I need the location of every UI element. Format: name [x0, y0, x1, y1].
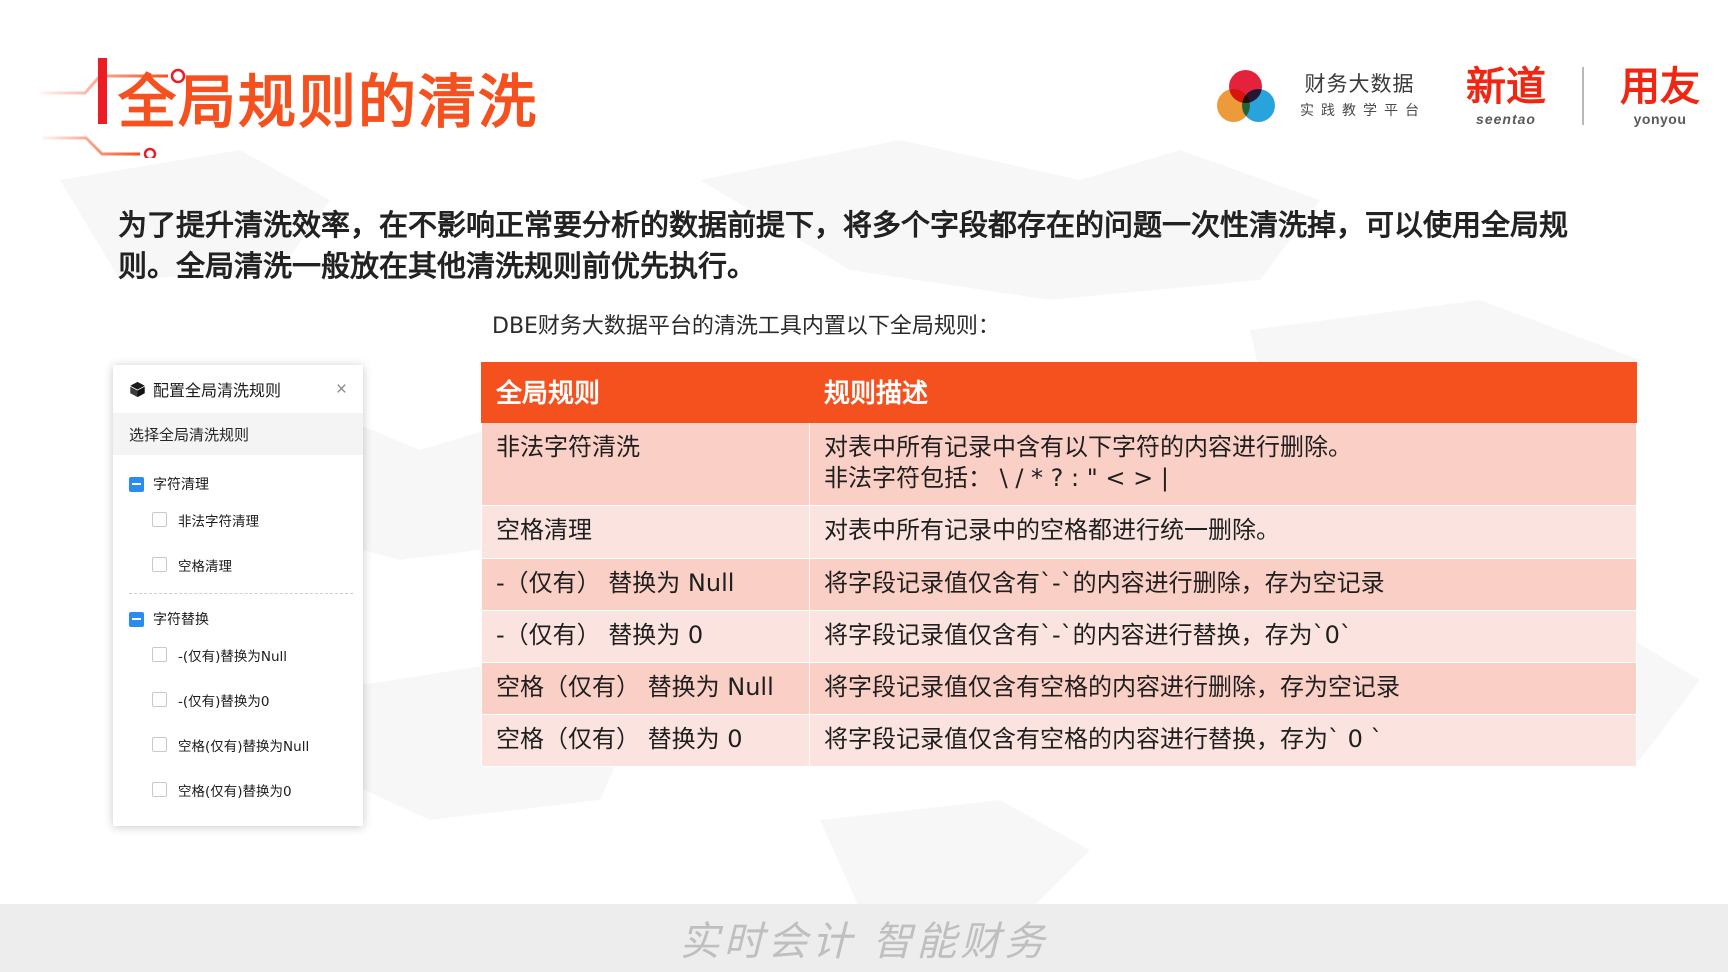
global-rules-table: 全局规则 规则描述 非法字符清洗 对表中所有记录中含有以下字符的内容进行删除。 …: [481, 362, 1637, 767]
page-header: 全局规则的清洗 财务大数据 实践教学平台 新道 seentao 用友 yonyo…: [0, 0, 1728, 165]
logo-divider: [1582, 67, 1584, 125]
checkbox-icon[interactable]: [152, 557, 167, 572]
dialog-body: 字符清理 非法字符清理 空格清理 字符替换 -(仅有)替换为Null: [113, 455, 363, 826]
page-title: 全局规则的清洗: [118, 55, 538, 139]
table-header-description: 规则描述: [810, 363, 1637, 423]
close-icon[interactable]: ×: [333, 378, 350, 401]
checkbox-row-dash-to-null[interactable]: -(仅有)替换为Null: [129, 632, 363, 677]
table-row: -（仅有） 替换为 Null 将字段记录值仅含有`-`的内容进行删除，存为空记录: [482, 558, 1637, 610]
table-row: 空格（仅有） 替换为 Null 将字段记录值仅含有空格的内容进行删除，存为空记录: [482, 662, 1637, 714]
global-clean-rules-dialog: 配置全局清洗规则 × 选择全局清洗规则 字符清理 非法字符清理 空格清理: [113, 365, 363, 826]
checkbox-row-space-to-null[interactable]: 空格(仅有)替换为Null: [129, 722, 363, 767]
brand-bar: 财务大数据 实践教学平台 新道 seentao 用友 yonyou: [1217, 56, 1700, 136]
table-header-rule: 全局规则: [482, 363, 810, 423]
cube-icon: [129, 381, 146, 398]
checkbox-icon[interactable]: [152, 512, 167, 527]
cell-description: 对表中所有记录中的空格都进行统一删除。: [810, 506, 1637, 558]
table-row: 空格（仅有） 替换为 0 将字段记录值仅含有空格的内容进行替换，存为` 0 `: [482, 715, 1637, 767]
rule-group-label: 字符清理: [153, 474, 209, 494]
checkbox-label: -(仅有)替换为Null: [178, 645, 287, 665]
yonyou-logo-en: yonyou: [1620, 112, 1700, 126]
table-caption: DBE财务大数据平台的清洗工具内置以下全局规则：: [492, 308, 1000, 340]
cell-description: 将字段记录值仅含有空格的内容进行替换，存为` 0 `: [810, 715, 1637, 767]
yonyou-logo-cn: 用友: [1620, 67, 1700, 107]
yonyou-logo: 用友 yonyou: [1620, 67, 1700, 126]
title-accent-bar: [98, 58, 107, 124]
dialog-title: 配置全局清洗规则: [153, 377, 333, 401]
checkbox-label: -(仅有)替换为0: [178, 690, 270, 710]
seentao-logo-en: seentao: [1466, 112, 1546, 126]
intro-paragraph: 为了提升清洗效率，在不影响正常要分析的数据前提下，将多个字段都存在的问题一次性清…: [118, 205, 1608, 287]
cell-rule: 空格（仅有） 替换为 0: [482, 715, 810, 767]
table-row: 空格清理 对表中所有记录中的空格都进行统一删除。: [482, 506, 1637, 558]
checkbox-label: 空格清理: [178, 555, 232, 575]
cell-rule: -（仅有） 替换为 0: [482, 610, 810, 662]
cell-rule: 空格（仅有） 替换为 Null: [482, 662, 810, 714]
cell-description: 将字段记录值仅含有`-`的内容进行替换，存为`0`: [810, 610, 1637, 662]
checkbox-icon[interactable]: [152, 737, 167, 752]
rule-group-character-replace: 字符替换 -(仅有)替换为Null -(仅有)替换为0 空格(仅有)替换为Nul…: [113, 606, 363, 812]
checkbox-icon[interactable]: [152, 647, 167, 662]
seentao-logo-cn: 新道: [1466, 67, 1546, 107]
cell-rule: -（仅有） 替换为 Null: [482, 558, 810, 610]
footer-watermark: 实时会计 智能财务: [680, 909, 1049, 967]
collapse-minus-icon[interactable]: [129, 612, 144, 627]
platform-subtitle: 实践教学平台: [1293, 104, 1426, 118]
checkbox-row-space-clean[interactable]: 空格清理: [129, 542, 363, 587]
cell-description: 对表中所有记录中含有以下字符的内容进行删除。 非法字符包括： \ / * ? :…: [810, 423, 1637, 506]
checkbox-row-space-to-zero[interactable]: 空格(仅有)替换为0: [129, 767, 363, 812]
table-header-row: 全局规则 规则描述: [482, 363, 1637, 423]
checkbox-row-dash-to-zero[interactable]: -(仅有)替换为0: [129, 677, 363, 722]
rule-group-header[interactable]: 字符替换: [129, 606, 363, 632]
venn-logo-icon: [1217, 70, 1275, 122]
platform-name: 财务大数据: [1293, 74, 1426, 95]
cell-description: 将字段记录值仅含有`-`的内容进行删除，存为空记录: [810, 558, 1637, 610]
rule-group-header[interactable]: 字符清理: [129, 471, 363, 497]
table-row: 非法字符清洗 对表中所有记录中含有以下字符的内容进行删除。 非法字符包括： \ …: [482, 423, 1637, 506]
table-row: -（仅有） 替换为 0 将字段记录值仅含有`-`的内容进行替换，存为`0`: [482, 610, 1637, 662]
checkbox-row-illegal-char-clean[interactable]: 非法字符清理: [129, 497, 363, 542]
checkbox-label: 非法字符清理: [178, 510, 259, 530]
checkbox-label: 空格(仅有)替换为0: [178, 780, 292, 800]
platform-name-block: 财务大数据 实践教学平台: [1293, 74, 1426, 118]
rule-group-label: 字符替换: [153, 609, 209, 629]
page-footer: 实时会计 智能财务: [0, 904, 1728, 972]
seentao-logo: 新道 seentao: [1466, 67, 1546, 126]
cell-rule: 非法字符清洗: [482, 423, 810, 506]
cell-rule: 空格清理: [482, 506, 810, 558]
checkbox-label: 空格(仅有)替换为Null: [178, 735, 309, 755]
group-divider: [129, 593, 353, 594]
checkbox-icon[interactable]: [152, 692, 167, 707]
collapse-minus-icon[interactable]: [129, 477, 144, 492]
rule-group-character-clean: 字符清理 非法字符清理 空格清理: [113, 471, 363, 587]
checkbox-icon[interactable]: [152, 782, 167, 797]
cell-description: 将字段记录值仅含有空格的内容进行删除，存为空记录: [810, 662, 1637, 714]
dialog-titlebar: 配置全局清洗规则 ×: [113, 365, 363, 413]
dialog-section-header: 选择全局清洗规则: [113, 413, 363, 455]
